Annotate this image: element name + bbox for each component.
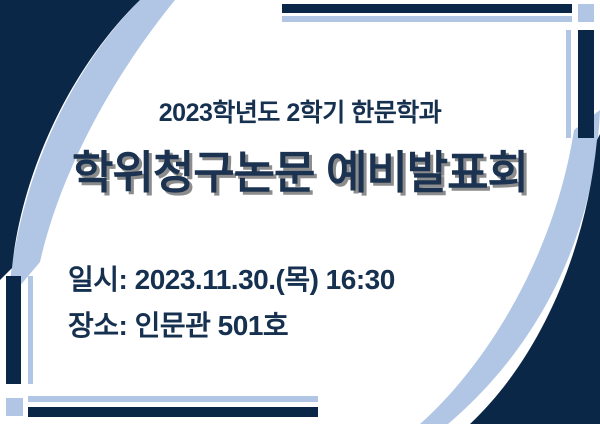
poster-subtitle: 2023학년도 2학기 한문학과 [0,93,600,129]
poster-main-title: 학위청구논문 예비발표회 [0,136,600,201]
poster-date-line: 일시: 2023.11.30.(목) 16:30 [68,258,395,298]
poster-canvas: 2023학년도 2학기 한문학과 학위청구논문 예비발표회 일시: 2023.1… [0,0,600,424]
poster-place-line: 장소: 인문관 501호 [68,304,288,344]
poster-text-block: 2023학년도 2학기 한문학과 학위청구논문 예비발표회 일시: 2023.1… [0,0,600,424]
